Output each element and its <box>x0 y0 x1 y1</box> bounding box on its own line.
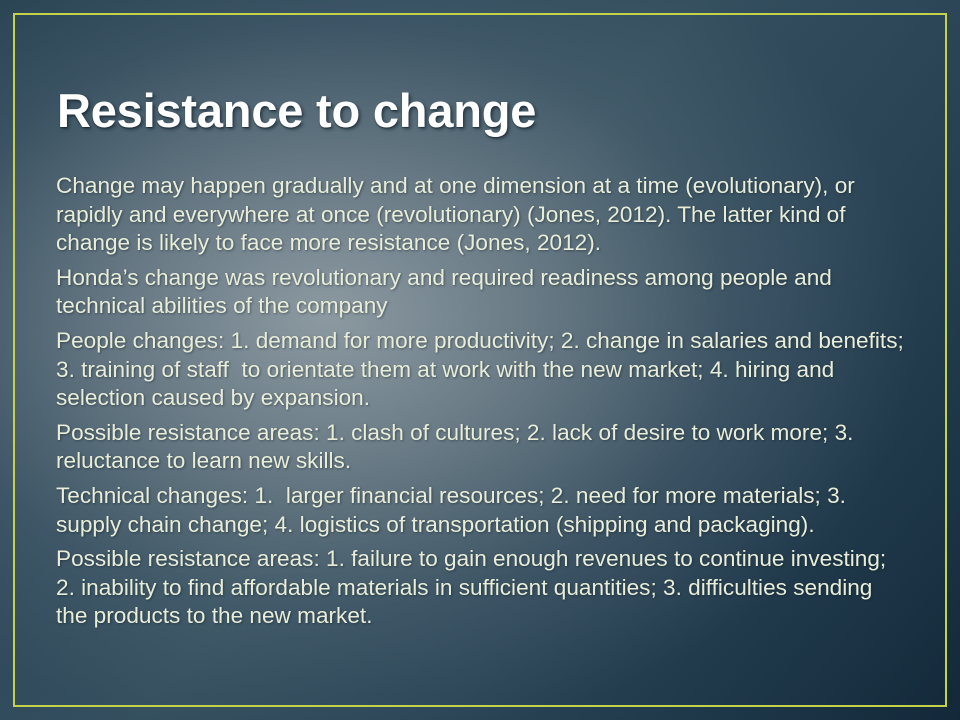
body-paragraph: Change may happen gradually and at one d… <box>56 172 904 258</box>
body-paragraph: Possible resistance areas: 1. failure to… <box>56 545 904 631</box>
slide-content: Resistance to change Change may happen g… <box>0 0 960 720</box>
body-paragraph: People changes: 1. demand for more produ… <box>56 327 904 413</box>
body-paragraph: Possible resistance areas: 1. clash of c… <box>56 419 904 476</box>
body-paragraph: Honda’s change was revolutionary and req… <box>56 264 904 321</box>
presentation-slide: Resistance to change Change may happen g… <box>0 0 960 720</box>
slide-title: Resistance to change <box>57 83 536 138</box>
body-paragraph: Technical changes: 1. larger financial r… <box>56 482 904 539</box>
slide-body: Change may happen gradually and at one d… <box>56 172 904 631</box>
